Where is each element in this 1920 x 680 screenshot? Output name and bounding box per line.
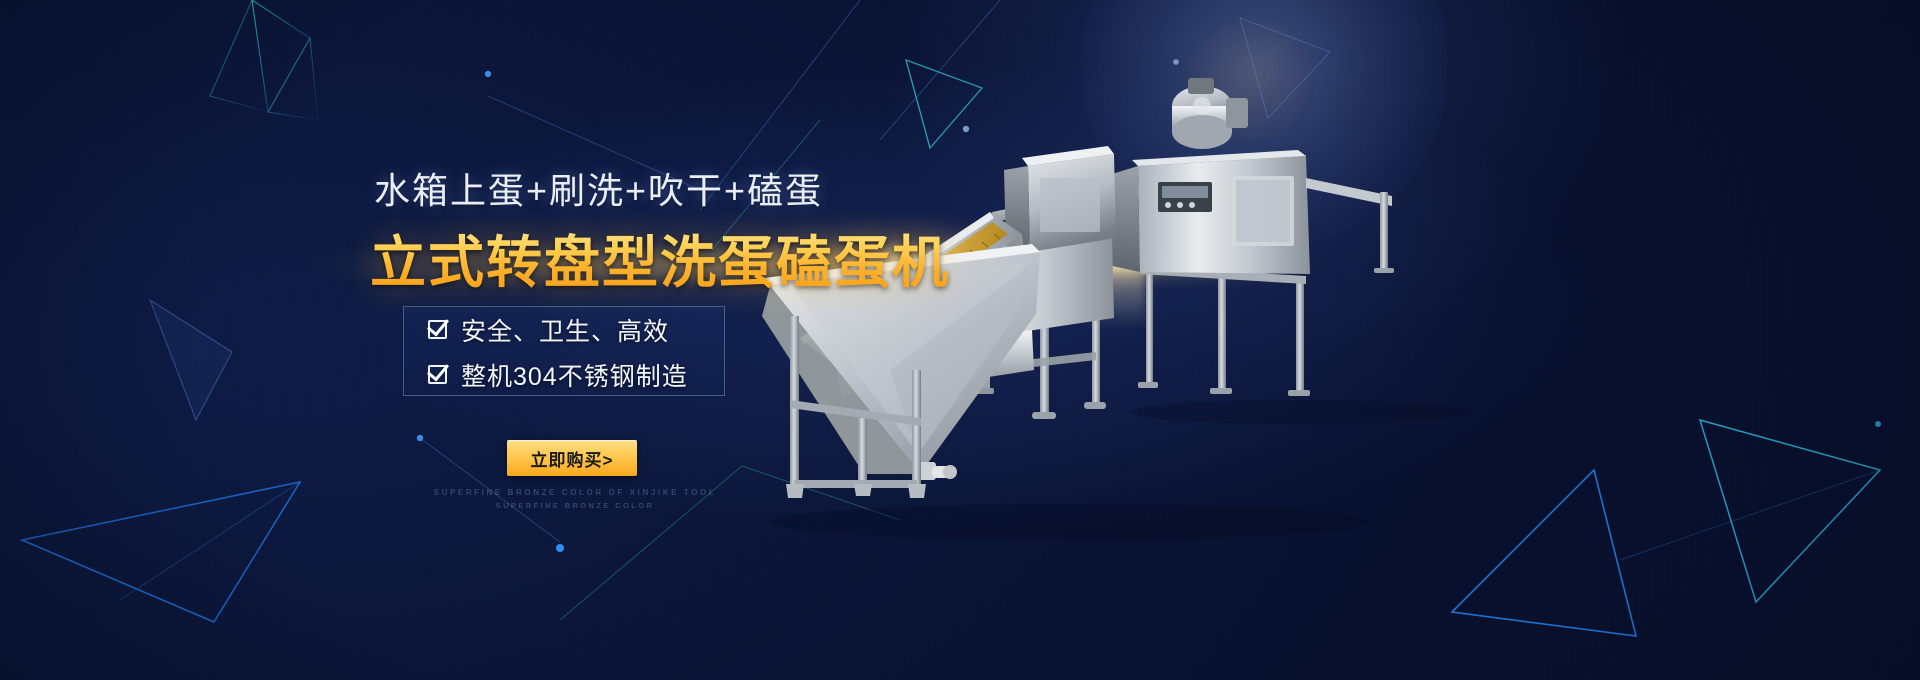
banner-content: 水箱上蛋+刷洗+吹干+磕蛋 立式转盘型洗蛋磕蛋机 立式转盘型洗蛋磕蛋机 安全、卫… <box>0 0 1920 680</box>
watermark-line-1: SUPERFINE BRONZE COLOR OF XINJIKE TOOL <box>380 486 770 499</box>
feature-label: 安全、卫生、高效 <box>461 312 669 348</box>
list-item: 安全、卫生、高效 <box>404 307 724 352</box>
watermark-text: SUPERFINE BRONZE COLOR OF XINJIKE TOOL S… <box>380 486 770 512</box>
feature-label: 整机304不锈钢制造 <box>461 357 688 393</box>
banner-headline: 立式转盘型洗蛋磕蛋机 <box>370 218 950 299</box>
checkbox-checked-icon <box>428 365 447 384</box>
buy-now-button[interactable]: 立即购买> <box>507 440 637 476</box>
feature-list: 安全、卫生、高效 整机304不锈钢制造 <box>403 306 725 396</box>
checkbox-checked-icon <box>428 320 447 339</box>
watermark-line-2: SUPERFINE BRONZE COLOR <box>380 499 770 512</box>
list-item: 整机304不锈钢制造 <box>404 352 724 397</box>
promo-banner: 水箱上蛋+刷洗+吹干+磕蛋 立式转盘型洗蛋磕蛋机 立式转盘型洗蛋磕蛋机 安全、卫… <box>0 0 1920 680</box>
banner-subtitle: 水箱上蛋+刷洗+吹干+磕蛋 <box>374 162 823 214</box>
